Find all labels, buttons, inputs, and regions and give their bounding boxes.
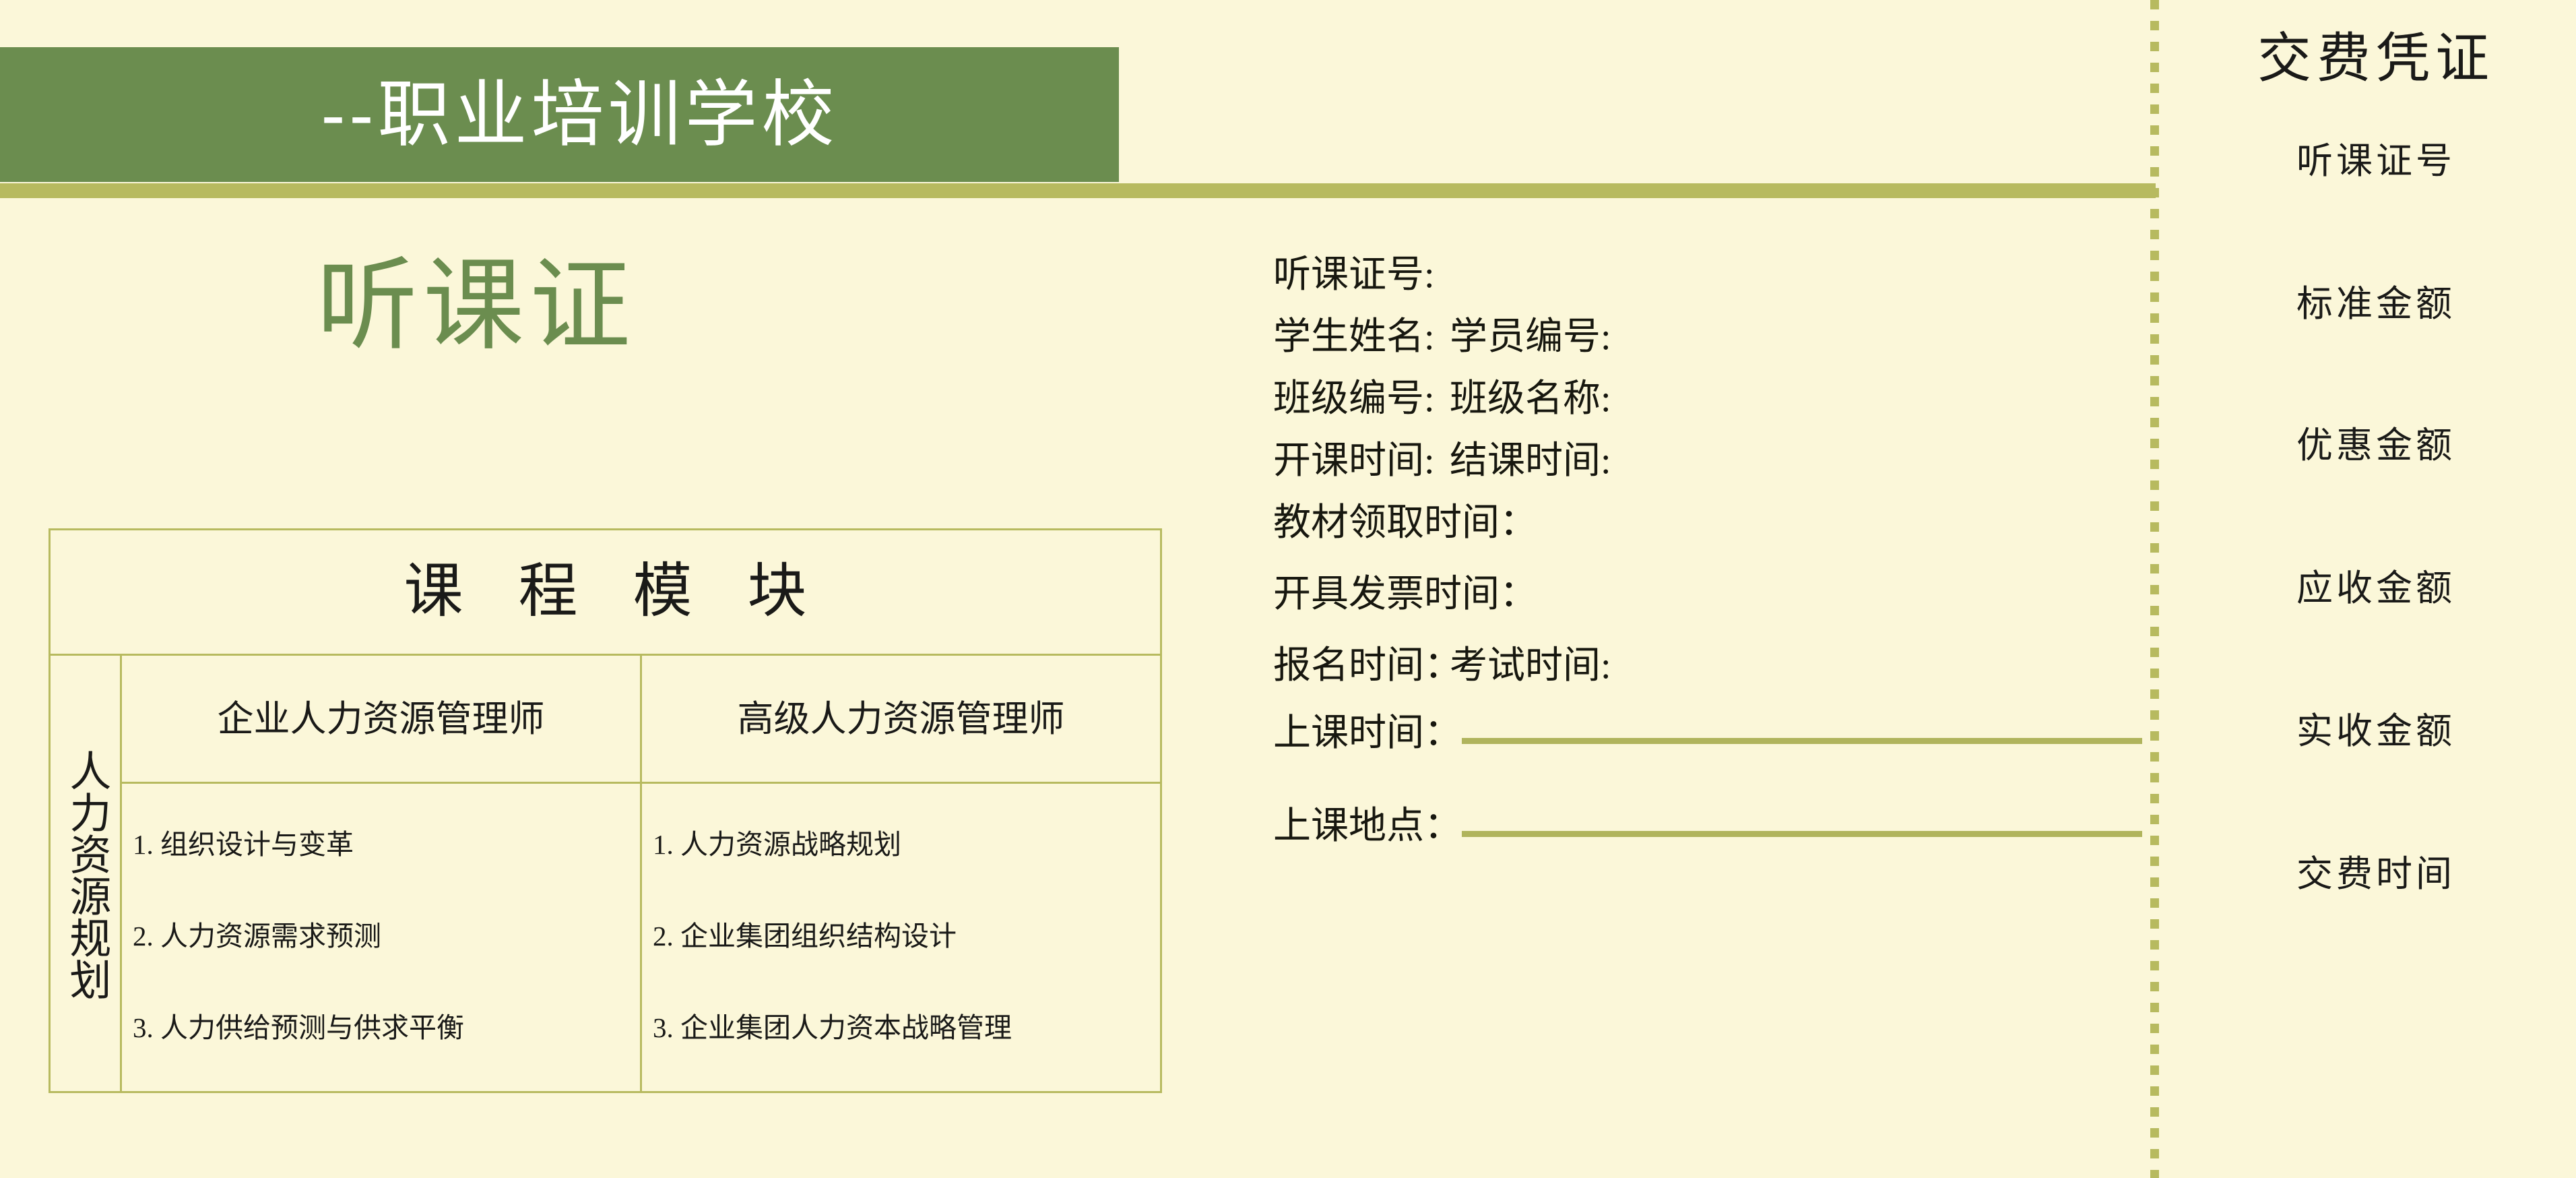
- course-module-column-1-items: 1. 组织设计与变革 2. 人力资源需求预测 3. 人力供给预测与供求平衡: [122, 784, 640, 1093]
- form-row-invoice-time: 开具发票时间：: [1273, 576, 2142, 613]
- form-row-registration-time: 报名时间： 考试时间:: [1273, 647, 2142, 685]
- stub-item-discount-amount: 优惠金额: [2176, 427, 2576, 464]
- course-module-column-2-items: 1. 人力资源战略规划 2. 企业集团组织结构设计 3. 企业集团人力资本战略管…: [642, 784, 1160, 1093]
- label-registration-time: 报名时间：: [1273, 645, 1462, 687]
- course-module-table-header: 课 程 模 块: [51, 530, 1160, 656]
- list-item: 3. 企业集团人力资本战略管理: [653, 1014, 1155, 1042]
- label-class-location: 上课地点：: [1273, 807, 1462, 845]
- list-item: 2. 企业集团组织结构设计: [653, 923, 1155, 950]
- label-student-name: 学生姓名:: [1273, 316, 1435, 358]
- label-course-start-time: 开课时间:: [1273, 440, 1435, 482]
- label-class-name: 班级名称:: [1450, 380, 1611, 418]
- label-class-number: 班级编号:: [1273, 378, 1435, 420]
- label-exam-time: 考试时间:: [1450, 647, 1611, 685]
- list-item: 3. 人力供给预测与供求平衡: [133, 1014, 635, 1042]
- form-row-class-time: 上课时间：: [1273, 714, 2142, 752]
- label-student-number: 学员编号:: [1450, 318, 1611, 356]
- course-module-table: 课 程 模 块 人力资源规划 企业人力资源管理师 1. 组织设计与变革 2. 人…: [49, 528, 1162, 1093]
- course-module-table-body: 人力资源规划 企业人力资源管理师 1. 组织设计与变革 2. 人力资源需求预测 …: [51, 656, 1160, 1093]
- form-row-class-location: 上课地点：: [1273, 807, 2142, 845]
- course-module-column-1: 企业人力资源管理师 1. 组织设计与变革 2. 人力资源需求预测 3. 人力供给…: [122, 656, 642, 1093]
- perforation-dotted-line: [2150, 0, 2159, 1178]
- payment-receipt-title: 交费凭证: [2176, 32, 2576, 86]
- label-course-end-time: 结课时间:: [1450, 442, 1611, 480]
- course-module-column-1-header: 企业人力资源管理师: [122, 656, 640, 784]
- label-invoice-time: 开具发票时间：: [1273, 573, 1537, 615]
- stub-item-payment-time: 交费时间: [2176, 856, 2576, 892]
- list-item: 1. 组织设计与变革: [133, 831, 635, 859]
- label-class-time: 上课时间：: [1273, 714, 1462, 752]
- course-module-row-label-text: 人力资源规划: [63, 749, 108, 1000]
- school-name-banner: --职业培训学校: [0, 47, 1119, 182]
- course-module-column-2: 高级人力资源管理师 1. 人力资源战略规划 2. 企业集团组织结构设计 3. 企…: [642, 656, 1160, 1093]
- form-row-student-name: 学生姓名: 学员编号:: [1273, 318, 2142, 356]
- stub-item-ticket-number: 听课证号: [2176, 143, 2576, 179]
- course-module-title: 课 程 模 块: [383, 563, 827, 622]
- list-item: 1. 人力资源战略规划: [653, 831, 1155, 859]
- class-location-input-line[interactable]: [1462, 831, 2142, 837]
- page-title: 听课证: [317, 255, 636, 356]
- list-item: 2. 人力资源需求预测: [133, 923, 635, 950]
- school-name-text: --职业培训学校: [281, 78, 839, 151]
- header-divider-rule: [0, 183, 2156, 198]
- course-module-column-2-header: 高级人力资源管理师: [642, 656, 1160, 784]
- stub-item-received-amount: 实收金额: [2176, 713, 2576, 749]
- course-module-column-1-title: 企业人力资源管理师: [218, 701, 545, 737]
- form-row-class-number: 班级编号: 班级名称:: [1273, 380, 2142, 418]
- form-row-textbook-pickup-time: 教材领取时间：: [1273, 504, 2142, 542]
- course-module-row-label: 人力资源规划: [51, 656, 122, 1093]
- label-textbook-pickup-time: 教材领取时间：: [1273, 502, 1537, 544]
- label-ticket-number: 听课证号:: [1273, 254, 1435, 296]
- stub-item-receivable-amount: 应收金额: [2176, 570, 2576, 607]
- payment-receipt-stub: 交费凭证 听课证号 标准金额 优惠金额 应收金额 实收金额 交费时间: [2176, 0, 2576, 1178]
- student-info-form: 听课证号: 学生姓名: 学员编号: 班级编号: 班级名称: 开课时间: 结课时间…: [1273, 256, 2142, 1112]
- class-time-input-line[interactable]: [1462, 738, 2142, 744]
- form-row-start-time: 开课时间: 结课时间:: [1273, 442, 2142, 480]
- admission-ticket-card: --职业培训学校 听课证 课 程 模 块 人力资源规划 企业人力资源管理师 1.…: [0, 0, 2576, 1178]
- stub-item-standard-amount: 标准金额: [2176, 286, 2576, 322]
- form-row-ticket-number: 听课证号:: [1273, 256, 2142, 294]
- course-module-column-2-title: 高级人力资源管理师: [738, 701, 1065, 737]
